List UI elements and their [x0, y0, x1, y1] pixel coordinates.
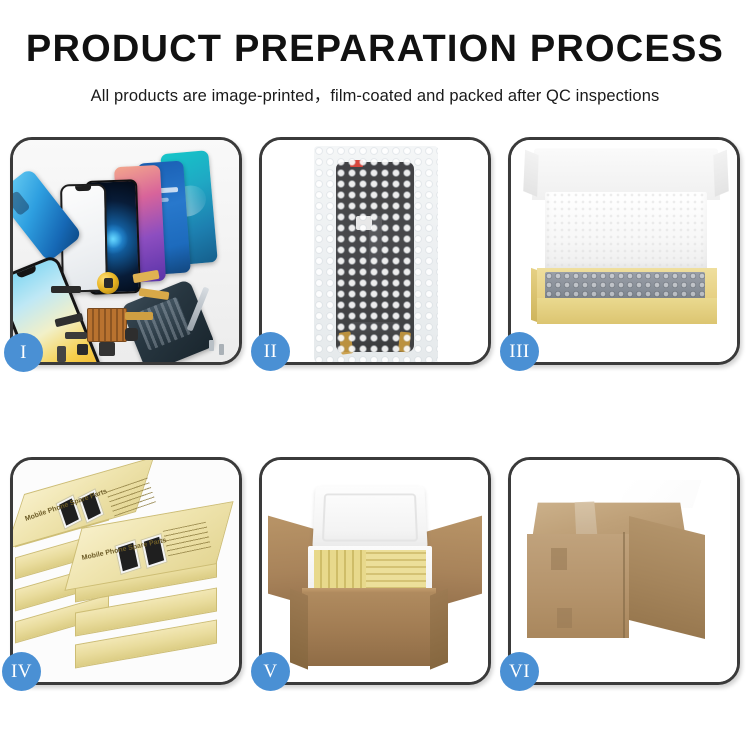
carton-side-panel	[629, 516, 705, 639]
step-panel-5: V	[259, 457, 491, 685]
step-image-6	[511, 460, 737, 682]
camera-module-part	[125, 328, 138, 341]
carton-tab-2	[557, 608, 572, 628]
step-image-2	[262, 140, 488, 362]
step-badge-2: II	[251, 332, 290, 371]
carton-front-panel	[527, 534, 629, 638]
bubble-texture	[314, 146, 438, 362]
screw-part-2	[219, 344, 224, 355]
step-badge-6: VI	[500, 652, 539, 691]
flex-cable-part-4	[54, 313, 83, 328]
carton-front-panel	[304, 592, 434, 666]
flex-cable-part-2	[139, 288, 170, 300]
carton-tab-1	[551, 548, 567, 570]
step-panel-2: II	[259, 137, 491, 365]
step-badge-5: V	[251, 652, 290, 691]
earpiece-part	[57, 346, 66, 362]
product-preparation-infographic: PRODUCT PREPARATION PROCESS All products…	[0, 0, 750, 750]
screwdriver-tool	[187, 287, 210, 332]
step-panel-4: Mobile Phone Spare Parts Mobile Phone Sp…	[10, 457, 242, 685]
step-badge-4: IV	[2, 652, 41, 691]
step-image-3	[511, 140, 737, 362]
battery-part	[99, 342, 115, 356]
foam-box-lid	[312, 486, 428, 550]
step-image-1	[13, 140, 239, 362]
screw-part-1	[209, 340, 214, 351]
step-panel-6: VI	[508, 457, 740, 685]
page-subtitle: All products are image-printed，film-coat…	[0, 82, 750, 106]
flex-cable-part-1	[132, 270, 159, 283]
process-steps-grid: I II	[10, 137, 740, 737]
spare-parts-group	[13, 140, 239, 362]
carton-corner-seam	[623, 532, 625, 638]
step-badge-1: I	[4, 333, 43, 372]
flex-cable-part-3	[125, 312, 153, 320]
wireless-coil-part	[97, 272, 119, 294]
box-tray-front	[537, 298, 717, 324]
step-panel-1: I	[10, 137, 242, 365]
bubble-wrap-bag	[314, 146, 438, 362]
chip-part	[77, 344, 88, 355]
copper-mesh-part	[87, 308, 127, 342]
flex-cable-part-5	[65, 332, 87, 339]
white-foam-sheet	[545, 192, 707, 272]
retail-box-stack: Mobile Phone Spare Parts Mobile Phone Sp…	[13, 460, 239, 682]
speaker-bar-part	[51, 286, 81, 293]
page-title: PRODUCT PREPARATION PROCESS	[0, 30, 750, 70]
step-badge-3: III	[500, 332, 539, 371]
step-image-5	[262, 460, 488, 682]
header: PRODUCT PREPARATION PROCESS All products…	[0, 0, 750, 106]
step-image-4: Mobile Phone Spare Parts Mobile Phone Sp…	[13, 460, 239, 682]
step-panel-3: III	[508, 137, 740, 365]
